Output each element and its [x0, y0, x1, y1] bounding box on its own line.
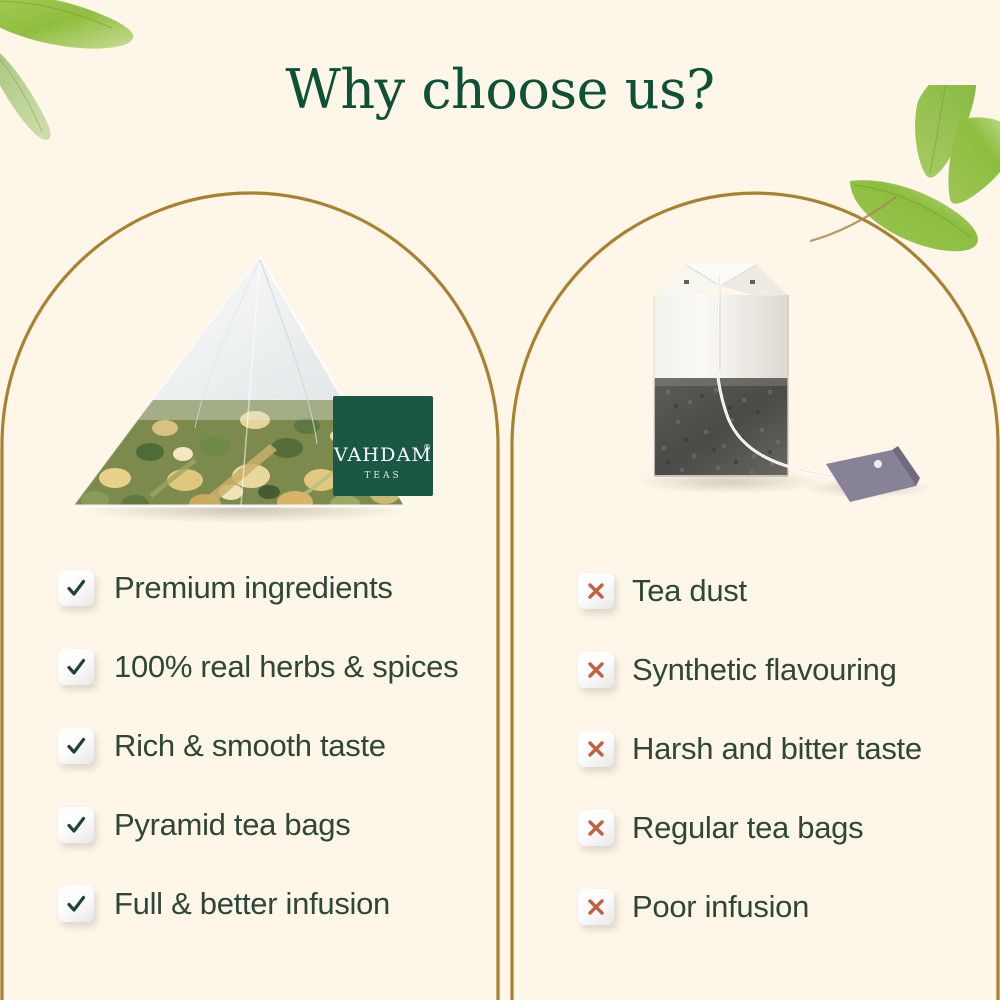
- list-item[interactable]: Pyramid tea bags: [58, 785, 478, 864]
- list-item-label: Synthetic flavouring: [632, 652, 897, 688]
- vahdam-brand-box: VAHDAM ® TEAS: [333, 396, 433, 496]
- list-item-label: Regular tea bags: [632, 810, 863, 846]
- cross-icon: [578, 889, 614, 925]
- cross-icon: [578, 810, 614, 846]
- list-item-label: Tea dust: [632, 573, 747, 609]
- pros-list: Premium ingredients 100% real herbs & sp…: [58, 548, 478, 943]
- list-item[interactable]: Premium ingredients: [58, 548, 478, 627]
- tea-dust-contents: [650, 378, 795, 478]
- check-icon: [58, 886, 94, 922]
- why-choose-us-infographic: Why choose us?: [0, 0, 1000, 1000]
- list-item-label: Rich & smooth taste: [114, 728, 386, 764]
- staple-right: [750, 280, 755, 284]
- check-icon: [58, 649, 94, 685]
- list-item[interactable]: Full & better infusion: [58, 864, 478, 943]
- cross-icon: [578, 573, 614, 609]
- list-item[interactable]: Regular tea bags: [578, 788, 978, 867]
- list-item-label: Poor infusion: [632, 889, 809, 925]
- list-item[interactable]: Tea dust: [578, 551, 978, 630]
- check-icon: [58, 570, 94, 606]
- list-item[interactable]: Harsh and bitter taste: [578, 709, 978, 788]
- brand-subtitle: TEAS: [364, 471, 401, 481]
- cross-icon: [578, 731, 614, 767]
- list-item[interactable]: Rich & smooth taste: [58, 706, 478, 785]
- list-item[interactable]: Poor infusion: [578, 867, 978, 946]
- staple-left: [684, 280, 689, 284]
- check-icon: [58, 807, 94, 843]
- page-title: Why choose us?: [0, 58, 1000, 121]
- list-item-label: Premium ingredients: [114, 570, 393, 606]
- brand-name: VAHDAM: [333, 444, 432, 466]
- list-item-label: Full & better infusion: [114, 886, 390, 922]
- check-icon: [58, 728, 94, 764]
- cons-list: Tea dust Synthetic flavouring Harsh and …: [578, 551, 978, 946]
- brand-registered-mark: ®: [423, 443, 431, 452]
- list-item[interactable]: 100% real herbs & spices: [58, 627, 478, 706]
- pyramid-tea-bag-image: VAHDAM ® TEAS: [55, 248, 455, 523]
- list-item-label: 100% real herbs & spices: [114, 649, 458, 685]
- list-item[interactable]: Synthetic flavouring: [578, 630, 978, 709]
- list-item-label: Pyramid tea bags: [114, 807, 350, 843]
- regular-tea-bag-image: [620, 250, 950, 530]
- cross-icon: [578, 652, 614, 688]
- list-item-label: Harsh and bitter taste: [632, 731, 922, 767]
